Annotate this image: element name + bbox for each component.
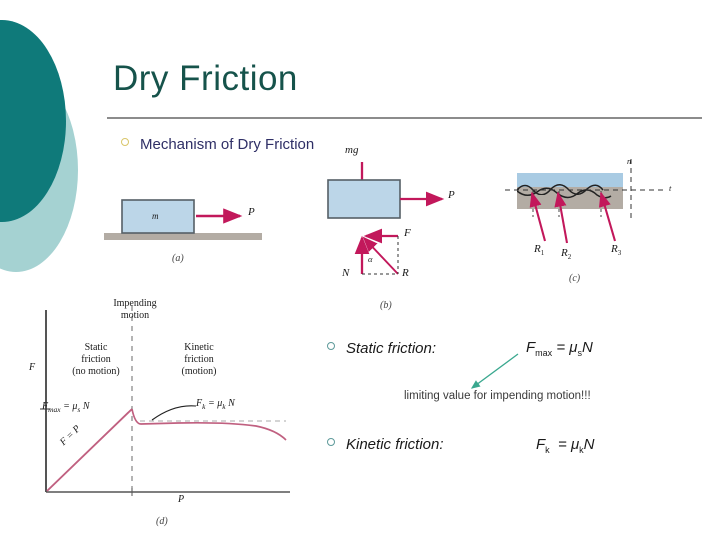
figure-b-friction-label: F xyxy=(404,227,411,239)
page-title: Dry Friction xyxy=(113,59,298,99)
limiting-value-note: limiting value for impending motion!!! xyxy=(404,390,591,402)
bullet-static-friction: Static friction: xyxy=(327,340,436,357)
impending-motion-label: Impending motion xyxy=(90,298,180,322)
kinetic-friction-curve xyxy=(132,409,286,440)
y-axis-label: F xyxy=(29,362,35,374)
figure-c: n t R1 R2 R3 (c) xyxy=(505,155,705,290)
bullet-kinetic-label: Kinetic friction: xyxy=(346,436,444,453)
figure-a: m P (a) xyxy=(100,185,280,280)
figure-b-weight-label: mg xyxy=(345,144,358,156)
figure-b-drawing xyxy=(320,148,480,313)
bullet-kinetic-friction: Kinetic friction: xyxy=(327,436,444,453)
formula-static-sub: max xyxy=(535,348,552,358)
formula-kinetic-sub: k xyxy=(545,445,550,455)
formula-kinetic-rhs: = μ xyxy=(558,436,579,453)
bullet-circle-icon xyxy=(327,342,335,350)
formula-static-rhs: = μ xyxy=(556,339,577,356)
static-region-label: Static friction (no motion) xyxy=(58,342,134,377)
figure-a-caption: (a) xyxy=(172,253,184,264)
bullet-mechanism: Mechanism of Dry Friction xyxy=(121,136,314,153)
formula-static-friction: Fmax = μsN xyxy=(526,339,593,358)
formula-static-rhs-tail: N xyxy=(582,339,593,356)
figure-c-reaction-label-1: R1 xyxy=(534,243,544,257)
bullet-mechanism-label: Mechanism of Dry Friction xyxy=(140,136,314,153)
fk-equation-label: Fk = μk N xyxy=(196,398,235,412)
figure-c-tangent-axis-label: t xyxy=(669,183,671,193)
block-body xyxy=(328,180,400,218)
formula-kinetic-rhs-tail: N xyxy=(584,436,595,453)
figure-c-reaction-label-3: R3 xyxy=(611,243,621,257)
bullet-circle-icon xyxy=(121,138,129,146)
figure-a-force-label: P xyxy=(248,206,255,218)
fmax-equation-label: Fmax = μs N xyxy=(42,401,89,415)
bullet-static-label: Static friction: xyxy=(346,340,436,357)
figure-b-angle-label: α xyxy=(368,254,372,264)
figure-b: mg P F N R α (b) xyxy=(320,148,480,318)
slide-canvas: Dry Friction Mechanism of Dry Friction S… xyxy=(0,0,720,539)
bullet-circle-icon xyxy=(327,438,335,446)
figure-d-caption: (d) xyxy=(156,516,168,527)
figure-c-reaction-label-2: R2 xyxy=(561,247,571,261)
figure-a-drawing xyxy=(100,185,280,263)
x-axis-label: P xyxy=(178,494,184,506)
title-divider xyxy=(107,117,702,119)
figure-c-normal-axis-label: n xyxy=(627,156,631,166)
figure-c-drawing xyxy=(505,155,705,277)
figure-b-normal-label: N xyxy=(342,267,349,279)
formula-kinetic-F: F xyxy=(536,436,545,453)
figure-b-caption: (b) xyxy=(380,300,392,311)
ground-surface xyxy=(104,233,262,240)
static-friction-curve xyxy=(47,409,132,491)
fk-leader-line xyxy=(152,406,196,420)
figure-d-graph: Impending motion F P Static friction (no… xyxy=(28,300,298,535)
formula-kinetic-friction: Fk = μkN xyxy=(536,436,595,455)
figure-b-resultant-label: R xyxy=(402,267,409,279)
kinetic-region-label: Kinetic friction (motion) xyxy=(158,342,240,377)
figure-b-applied-label: P xyxy=(448,189,455,201)
figure-a-mass-label: m xyxy=(152,211,159,221)
figure-c-caption: (c) xyxy=(569,273,580,284)
